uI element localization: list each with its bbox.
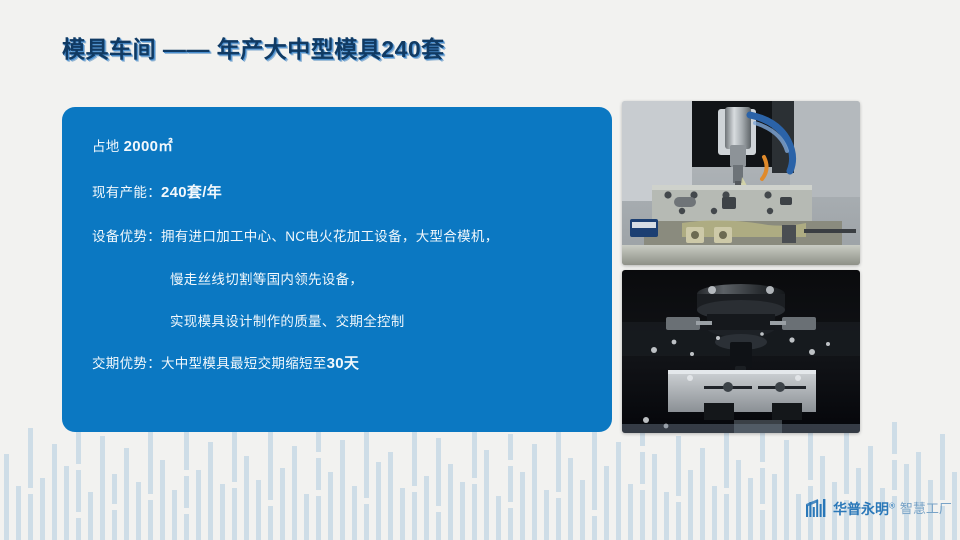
decoration-bar	[784, 440, 789, 540]
info-line-equipment-1: 设备优势：拥有进口加工中心、NC电火花加工设备，大型合模机，	[92, 230, 582, 244]
decoration-bar	[136, 482, 141, 540]
decoration-bar	[508, 434, 513, 540]
decoration-bar	[556, 422, 561, 540]
decoration-bar	[808, 418, 813, 540]
decoration-bar	[424, 476, 429, 540]
decoration-bar	[352, 486, 357, 540]
decoration-bar	[124, 448, 129, 540]
decoration-bar	[388, 452, 393, 540]
decoration-bar	[640, 416, 645, 540]
decoration-bar	[520, 472, 525, 540]
decoration-bar	[112, 474, 117, 540]
decoration-bar	[472, 420, 477, 540]
decoration-bar	[100, 436, 105, 540]
decoration-bar	[28, 428, 33, 540]
decoration-bar	[340, 440, 345, 540]
decoration-bar	[748, 478, 753, 540]
info-line-area-unit: ㎡	[158, 139, 173, 155]
decoration-bar	[760, 432, 765, 540]
decoration-bar	[220, 484, 225, 540]
decoration-bar	[268, 430, 273, 540]
decoration-bar	[688, 470, 693, 540]
decoration-bar	[544, 490, 549, 540]
decoration-bar	[364, 418, 369, 540]
logo-brand: 华普永明®	[833, 502, 895, 516]
decoration-bar	[76, 420, 81, 540]
decoration-bar	[244, 456, 249, 540]
decoration-bar	[604, 466, 609, 540]
decoration-bar	[664, 492, 669, 540]
logo: 华普永明® 智慧工厂	[806, 499, 952, 518]
cnc-milling-workpiece-photo	[622, 270, 860, 433]
decoration-bar	[172, 490, 177, 540]
decoration-bar	[232, 416, 237, 540]
decoration-bar	[16, 486, 21, 540]
decoration-bar	[196, 470, 201, 540]
logo-trademark: ®	[889, 501, 895, 510]
decoration-bar	[376, 462, 381, 540]
decoration-bar	[580, 480, 585, 540]
decoration-bar	[460, 482, 465, 540]
decoration-bar	[628, 484, 633, 540]
cnc-machining-center-photo	[622, 101, 860, 265]
decoration-bar	[712, 486, 717, 540]
logo-subtitle: 智慧工厂	[900, 502, 952, 515]
info-line-delivery: 交期优势：大中型模具最短交期缩短至30天	[92, 356, 582, 371]
cnc-machining-center-image	[622, 101, 860, 265]
decoration-bar	[496, 496, 501, 540]
decoration-bar	[868, 446, 873, 540]
info-line-capacity: 现有产能：240套/年	[92, 185, 582, 200]
decoration-bar	[400, 488, 405, 540]
decoration-bar	[484, 450, 489, 540]
slide-canvas: 模具车间 —— 年产大中型模具240套 占地 2000㎡ 现有产能：240套/年…	[0, 0, 960, 540]
info-line-delivery-value: 30天	[327, 355, 360, 372]
info-line-capacity-value: 240套/年	[161, 184, 222, 201]
info-panel: 占地 2000㎡ 现有产能：240套/年 设备优势：拥有进口加工中心、NC电火花…	[62, 107, 612, 432]
decoration-bar	[64, 466, 69, 540]
decoration-bar	[208, 442, 213, 540]
decoration-bar	[940, 434, 945, 540]
decoration-bar	[256, 480, 261, 540]
decoration-bar	[616, 442, 621, 540]
decoration-bar	[892, 422, 897, 540]
decoration-bar	[736, 460, 741, 540]
decoration-bar	[184, 432, 189, 540]
decoration-bar	[652, 454, 657, 540]
decoration-bar	[844, 428, 849, 540]
decoration-bar	[532, 444, 537, 540]
decoration-bar	[88, 492, 93, 540]
decoration-bar	[148, 422, 153, 540]
decoration-bar	[796, 494, 801, 540]
bar-chart-logo-icon	[806, 499, 828, 518]
decoration-bar	[772, 474, 777, 540]
decoration-bar	[280, 468, 285, 540]
decoration-bar	[568, 458, 573, 540]
info-line-delivery-label: 交期优势：大中型模具最短交期缩短至	[92, 356, 327, 371]
decoration-bar	[160, 460, 165, 540]
info-line-area-label: 占地	[92, 139, 124, 154]
decoration-bar	[916, 452, 921, 540]
page-title: 模具车间 —— 年产大中型模具240套	[62, 30, 445, 64]
info-line-capacity-label: 现有产能：	[92, 185, 161, 200]
info-line-area: 占地 2000㎡	[92, 139, 582, 155]
info-line-equipment-3: 实现模具设计制作的质量、交期全控制	[170, 315, 582, 329]
info-line-area-value: 2000	[124, 138, 159, 155]
decoration-bar	[952, 472, 957, 540]
decoration-bar	[4, 454, 9, 540]
decoration-bar	[448, 464, 453, 540]
decoration-bar	[52, 444, 57, 540]
info-line-equipment-2: 慢走丝线切割等国内领先设备，	[170, 273, 582, 287]
decoration-bar	[40, 478, 45, 540]
cnc-milling-workpiece-image	[622, 270, 860, 433]
decoration-bar	[412, 426, 417, 540]
decoration-bar	[820, 456, 825, 540]
decoration-bar	[724, 424, 729, 540]
decoration-bar	[304, 494, 309, 540]
decoration-bar	[676, 436, 681, 540]
decoration-bar	[592, 430, 597, 540]
decoration-bar	[436, 438, 441, 540]
decoration-bar	[700, 448, 705, 540]
decoration-bar	[316, 424, 321, 540]
decoration-bar	[328, 472, 333, 540]
decoration-bar	[292, 446, 297, 540]
